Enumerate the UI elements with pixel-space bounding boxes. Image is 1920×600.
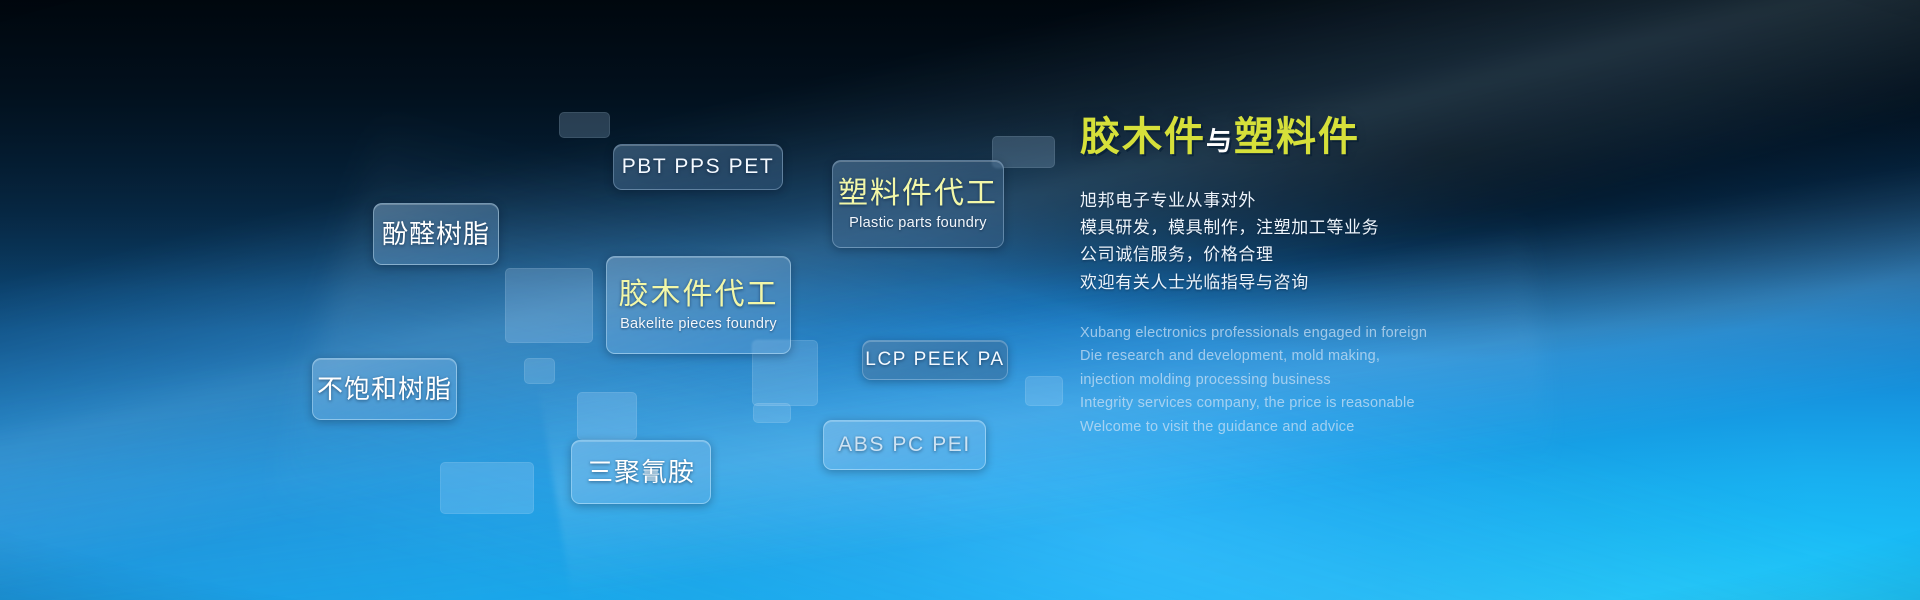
hero-banner: PBT PPS PET 酚醛树脂 塑料件代工 Plastic parts fou…	[0, 0, 1920, 600]
headline: 胶木件与塑料件	[1080, 115, 1800, 159]
en-line-2: Die research and development, mold makin…	[1080, 345, 1800, 368]
en-line-1: Xubang electronics professionals engaged…	[1080, 322, 1800, 345]
en-line-5: Welcome to visit the guidance and advice	[1080, 416, 1800, 439]
en-line-4: Integrity services company, the price is…	[1080, 392, 1800, 415]
english-description: Xubang electronics professionals engaged…	[1080, 322, 1800, 439]
headline-conjunction: 与	[1206, 126, 1234, 156]
en-line-3: injection molding processing business	[1080, 369, 1800, 392]
headline-part2: 塑料件	[1234, 115, 1360, 159]
copy-block: 胶木件与塑料件 旭邦电子专业从事对外 模具研发，模具制作，注塑加工等业务 公司诚…	[1080, 115, 1800, 439]
cn-line-4: 欢迎有关人士光临指导与咨询	[1080, 269, 1800, 296]
chinese-description: 旭邦电子专业从事对外 模具研发，模具制作，注塑加工等业务 公司诚信服务，价格合理…	[1080, 187, 1800, 296]
headline-part1: 胶木件	[1080, 115, 1206, 159]
cn-line-3: 公司诚信服务，价格合理	[1080, 241, 1800, 268]
cn-line-2: 模具研发，模具制作，注塑加工等业务	[1080, 214, 1800, 241]
cn-line-1: 旭邦电子专业从事对外	[1080, 187, 1800, 214]
